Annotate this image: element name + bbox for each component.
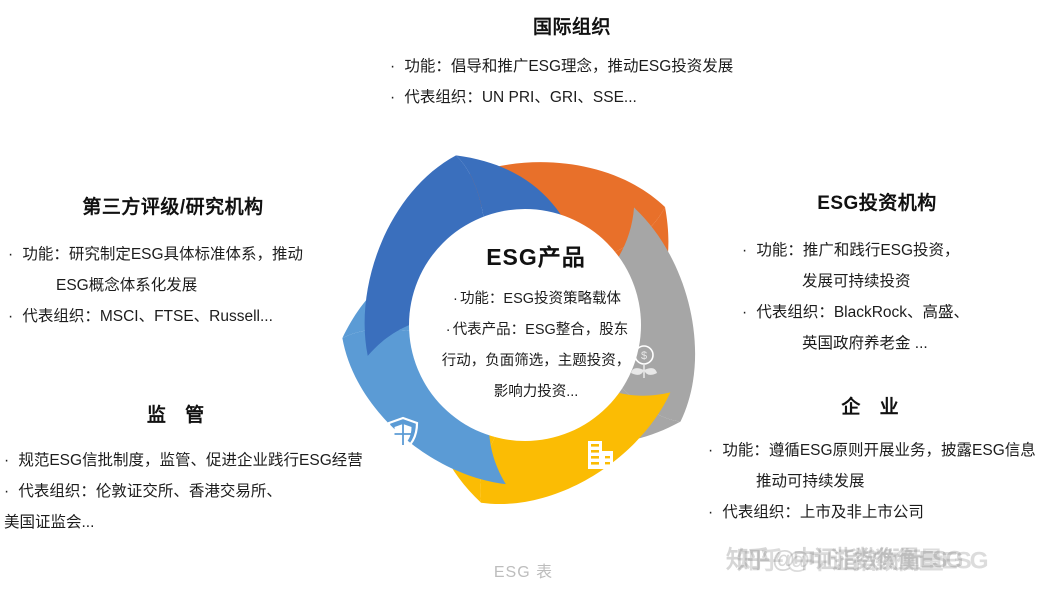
- block-title: 企 业: [700, 392, 1047, 419]
- block-international-organizations: 国际组织 · 功能：倡导和推广ESG理念，推动ESG投资发展 · 代表组织：UN…: [382, 12, 762, 113]
- bullet-item: · 功能：倡导和推广ESG理念，推动ESG投资发展: [382, 51, 762, 82]
- center-bullet-2-cont-2: 影响力投资...: [398, 377, 674, 408]
- bullet-dot: ·: [390, 51, 400, 82]
- bullet-item: · 代表组织：上市及非上市公司: [700, 497, 1047, 528]
- bullet-item-continuation: 英国政府养老金 ...: [712, 328, 1042, 359]
- bullet-dot: ·: [708, 497, 718, 528]
- bullet-item-continuation: · 美国证监会...: [4, 507, 354, 538]
- bullet-item: · 代表组织：伦敦证交所、香港交易所、: [4, 476, 354, 507]
- bullet-item-continuation: 推动可持续发展: [700, 466, 1047, 497]
- block-title: ESG投资机构: [712, 188, 1042, 215]
- block-esg-investors: ESG投资机构 · 功能：推广和践行ESG投资， 发展可持续投资 · 代表组织：…: [712, 188, 1042, 359]
- block-title: 监 管: [4, 400, 354, 427]
- bullet-dot: ·: [742, 297, 752, 328]
- bullet-list: · 规范ESG信批制度，监管、促进企业践行ESG经营 · 代表组织：伦敦证交所、…: [4, 445, 354, 538]
- infographic-canvas: $: [0, 0, 1047, 591]
- block-third-party-rating: 第三方评级/研究机构 · 功能：研究制定ESG具体标准体系，推动 ESG概念体系…: [8, 192, 338, 332]
- block-enterprises: 企 业 · 功能：遵循ESG原则开展业务，披露ESG信息 推动可持续发展 · 代…: [700, 392, 1047, 528]
- bullet-dot: ·: [742, 235, 752, 266]
- bullet-dot: ·: [708, 435, 718, 466]
- bullet-list: · 功能：研究制定ESG具体标准体系，推动 ESG概念体系化发展 · 代表组织：…: [8, 239, 338, 332]
- cloud-upload-icon: [339, 265, 367, 298]
- bullet-dot: ·: [4, 445, 14, 476]
- watermark-text-ghost: 知乎 @中证指数衡量ESG: [737, 540, 987, 576]
- watermark: 知乎 @中证指数衡量ESG 知乎 @中证指数衡量ESG: [726, 539, 961, 575]
- center-bullet-2: ·代表产品：ESG整合，股东: [398, 315, 674, 346]
- bullet-item: · 功能：研究制定ESG具体标准体系，推动: [8, 239, 338, 270]
- bullet-dot: ·: [451, 284, 460, 315]
- block-regulators: 监 管 · 规范ESG信批制度，监管、促进企业践行ESG经营 · 代表组织：伦敦…: [4, 400, 354, 538]
- bullet-item: · 代表组织：BlackRock、高盛、: [712, 297, 1042, 328]
- bullet-item: · 功能：遵循ESG原则开展业务，披露ESG信息: [700, 435, 1047, 466]
- bullet-list: · 功能：倡导和推广ESG理念，推动ESG投资发展 · 代表组织：UN PRI、…: [382, 51, 762, 113]
- block-title: 国际组织: [382, 12, 762, 39]
- block-title: 第三方评级/研究机构: [8, 192, 338, 219]
- center-title: ESG产品: [398, 238, 674, 272]
- center-text-group: ESG产品 ·功能：ESG投资策略载体 ·代表产品：ESG整合，股东 行动，负面…: [398, 238, 674, 408]
- bullet-item-continuation: 发展可持续投资: [712, 266, 1042, 297]
- bullet-list: · 功能：遵循ESG原则开展业务，披露ESG信息 推动可持续发展 · 代表组织：…: [700, 435, 1047, 528]
- bullet-dot: ·: [390, 82, 400, 113]
- bullet-item: · 功能：推广和践行ESG投资，: [712, 235, 1042, 266]
- center-bullet-1: ·功能：ESG投资策略载体: [398, 284, 674, 315]
- bullet-item: · 规范ESG信批制度，监管、促进企业践行ESG经营: [4, 445, 354, 476]
- bullet-dot: ·: [8, 301, 18, 332]
- bullet-dot: ·: [8, 239, 18, 270]
- bullet-dot: ·: [4, 476, 14, 507]
- center-bullet-2-cont-1: 行动，负面筛选，主题投资，: [398, 346, 674, 377]
- bullet-item-continuation: ESG概念体系化发展: [8, 270, 338, 301]
- bullet-dot: ·: [444, 315, 453, 346]
- bullet-item: · 代表组织：UN PRI、GRI、SSE...: [382, 82, 762, 113]
- bullet-list: · 功能：推广和践行ESG投资， 发展可持续投资 · 代表组织：BlackRoc…: [712, 235, 1042, 359]
- bullet-item: · 代表组织：MSCI、FTSE、Russell...: [8, 301, 338, 332]
